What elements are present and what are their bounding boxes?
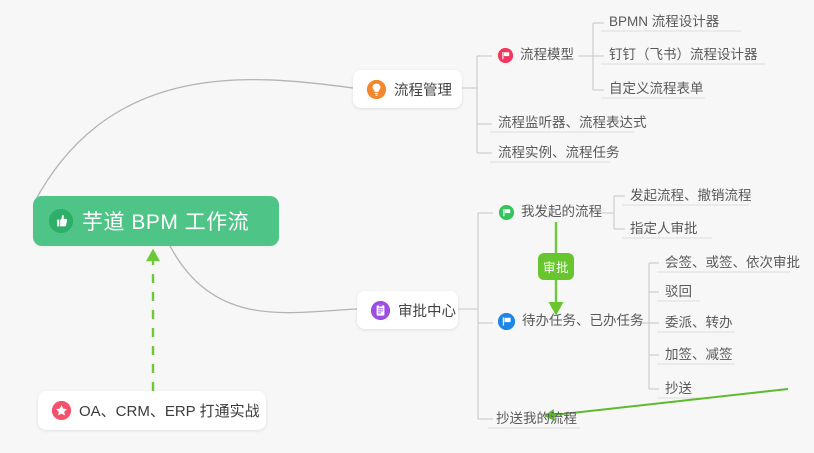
star-icon (52, 401, 71, 420)
leaf-bpmn-designer[interactable]: BPMN 流程设计器 (601, 13, 727, 36)
leaf-bpmn-designer-label: BPMN 流程设计器 (609, 14, 719, 29)
leaf-start-cancel-process-label: 发起流程、撤销流程 (630, 188, 752, 203)
node-process-management-label: 流程管理 (394, 79, 452, 100)
leaf-cc-to-me[interactable]: 抄送我的流程 (488, 410, 585, 433)
leaf-reject[interactable]: 驳回 (657, 283, 700, 306)
leaf-assign-approver-label: 指定人审批 (630, 221, 698, 236)
leaf-process-instance[interactable]: 流程实例、流程任务 (490, 144, 628, 167)
leaf-process-listener-label: 流程监听器、流程表达式 (498, 115, 647, 130)
root-node-label: 芋道 BPM 工作流 (82, 206, 249, 236)
leaf-countersign[interactable]: 会签、或签、依次审批 (657, 254, 808, 277)
flag-icon (499, 205, 514, 220)
leaf-process-listener[interactable]: 流程监听器、流程表达式 (490, 114, 655, 137)
node-integration-practice-label: OA、CRM、ERP 打通实战 (79, 400, 260, 421)
annotation-approve-tag: 审批 (538, 253, 574, 280)
node-todo-done-tasks[interactable]: 待办任务、已办任务 (492, 312, 652, 335)
leaf-custom-form[interactable]: 自定义流程表单 (601, 80, 712, 103)
leaf-cc[interactable]: 抄送 (657, 380, 700, 403)
leaf-add-remove-sign[interactable]: 加签、减签 (657, 346, 741, 369)
leaf-countersign-label: 会签、或签、依次审批 (665, 255, 800, 270)
leaf-dingtalk-designer-label: 钉钉（飞书）流程设计器 (609, 47, 758, 62)
edge-root-to-approval-center (170, 246, 357, 313)
leaf-cc-label: 抄送 (665, 381, 692, 396)
leaf-dingtalk-designer[interactable]: 钉钉（飞书）流程设计器 (601, 46, 766, 69)
node-integration-practice[interactable]: OA、CRM、ERP 打通实战 (38, 391, 266, 430)
edge-root-to-process-management (34, 80, 353, 203)
node-approval-center-label: 审批中心 (398, 300, 456, 321)
node-todo-done-tasks-label: 待办任务、已办任务 (522, 312, 644, 330)
thumbs-up-icon (49, 209, 73, 233)
leaf-cc-to-me-label: 抄送我的流程 (496, 411, 577, 426)
mindmap-canvas: 芋道 BPM 工作流 流程管理 流程模型 BPMN 流程设计器 钉钉（飞书 (0, 0, 814, 453)
node-process-model-label: 流程模型 (520, 46, 574, 64)
clipboard-icon (371, 301, 390, 320)
lightbulb-icon (367, 80, 386, 99)
leaf-delegate-transfer[interactable]: 委派、转办 (657, 314, 741, 337)
leaf-start-cancel-process[interactable]: 发起流程、撤销流程 (622, 187, 760, 210)
node-approval-center[interactable]: 审批中心 (357, 291, 458, 329)
root-node[interactable]: 芋道 BPM 工作流 (33, 196, 279, 246)
node-my-initiated-processes-label: 我发起的流程 (521, 203, 602, 221)
node-process-management[interactable]: 流程管理 (353, 70, 462, 108)
node-my-initiated-processes[interactable]: 我发起的流程 (493, 203, 610, 226)
flag-icon (498, 313, 515, 330)
leaf-add-remove-sign-label: 加签、减签 (665, 347, 733, 362)
flag-icon (498, 48, 513, 63)
node-process-model[interactable]: 流程模型 (492, 46, 582, 69)
annotation-approve-tag-label: 审批 (543, 257, 569, 276)
leaf-custom-form-label: 自定义流程表单 (609, 81, 704, 96)
leaf-delegate-transfer-label: 委派、转办 (665, 315, 733, 330)
leaf-process-instance-label: 流程实例、流程任务 (498, 145, 620, 160)
leaf-reject-label: 驳回 (665, 284, 692, 299)
leaf-assign-approver[interactable]: 指定人审批 (622, 220, 706, 243)
